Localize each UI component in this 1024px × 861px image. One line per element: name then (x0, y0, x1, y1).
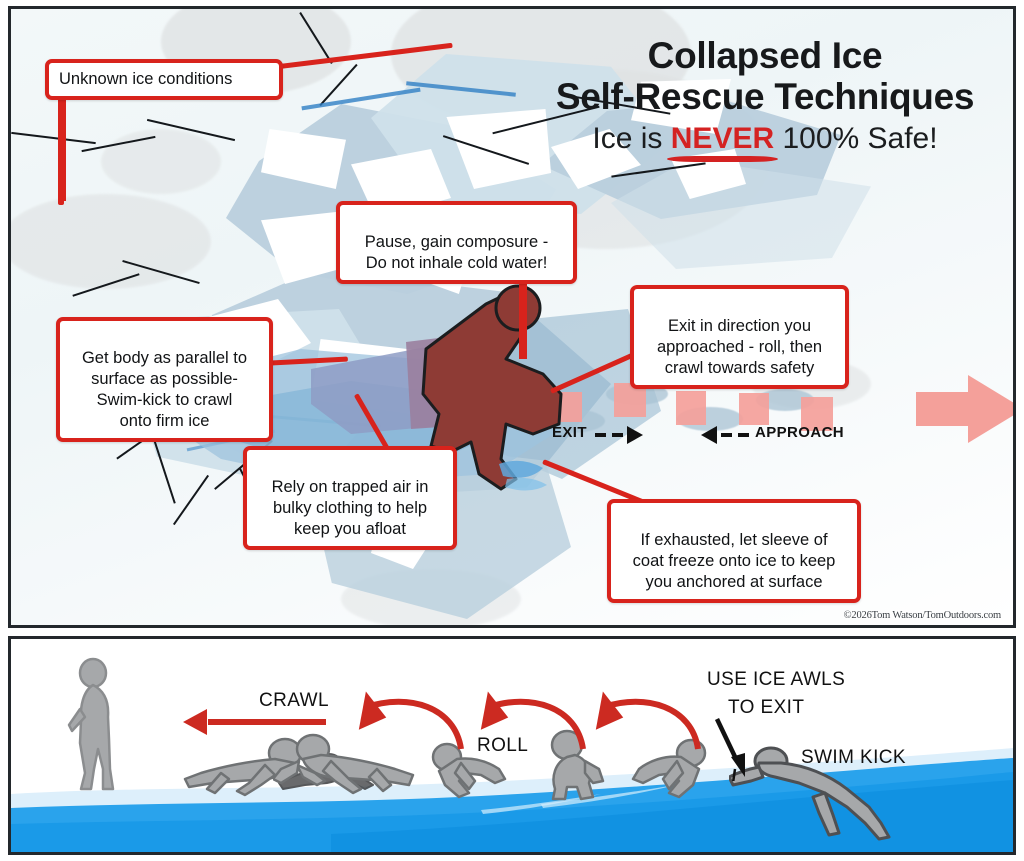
callout-body-parallel[interactable]: Get body as parallel to surface as possi… (56, 317, 273, 442)
exit-label: EXIT (552, 424, 587, 441)
approach-arrowhead (701, 426, 717, 444)
approach-dash (721, 433, 732, 437)
crawl-arrow-head (183, 709, 207, 735)
title-block: Collapsed Ice Self-Rescue Techniques Ice… (545, 35, 985, 156)
arrow-head (968, 375, 1016, 443)
approach-dash (738, 433, 749, 437)
callout-text: Unknown ice conditions (59, 70, 232, 88)
exit-arrowhead (627, 426, 643, 444)
infographic-root: EXIT APPROACH Unknown ice conditions Pau… (0, 0, 1024, 861)
copyright-notice: ©2026Tom Watson/TomOutdoors.com (844, 610, 1001, 621)
roll-label: ROLL (477, 735, 528, 757)
crack-line (11, 132, 96, 144)
main-illustration-panel: EXIT APPROACH Unknown ice conditions Pau… (8, 6, 1016, 628)
figure-walking (63, 657, 127, 795)
roll-arc-3 (576, 691, 706, 753)
subtitle-emphasis: NEVER (671, 122, 774, 155)
callout-pause-composure[interactable]: Pause, gain composure - Do not inhale co… (336, 201, 577, 284)
subtitle: Ice is NEVER 100% Safe! (545, 122, 985, 156)
cloud-blob (8, 194, 211, 289)
arrow-shaft (916, 392, 974, 426)
ice-awls-label-line1: USE ICE AWLS (707, 669, 845, 691)
emphasis-underline (667, 156, 778, 162)
subtitle-emphasis-text: NEVER (671, 122, 774, 155)
direction-arrow-large (916, 375, 1016, 443)
ice-awls-label-line2: TO EXIT (728, 697, 804, 719)
sequence-panel: CRAWL ROLL USE ICE AWLS TO EXIT SWIM KIC… (8, 636, 1016, 855)
callout-text: Exit in direction you approached - roll,… (657, 317, 822, 377)
leader-unknown-ice-tip (58, 195, 64, 205)
crawl-label: CRAWL (259, 690, 329, 712)
cloud-blob (101, 129, 221, 194)
callout-text: Rely on trapped air in bulky clothing to… (272, 478, 429, 538)
exit-dash (612, 433, 623, 437)
title-line-2: Self-Rescue Techniques (545, 76, 985, 117)
callout-trapped-air[interactable]: Rely on trapped air in bulky clothing to… (243, 446, 457, 550)
callout-text: If exhausted, let sleeve of coat freeze … (633, 531, 836, 591)
crawl-arrow-shaft (208, 719, 326, 725)
callout-unknown-ice[interactable]: Unknown ice conditions (45, 59, 283, 100)
exit-dash (595, 433, 606, 437)
approach-label: APPROACH (755, 424, 844, 441)
callout-freeze-sleeve[interactable]: If exhausted, let sleeve of coat freeze … (607, 499, 861, 603)
footprint (739, 393, 769, 425)
subtitle-suffix: 100% Safe! (774, 122, 937, 155)
callout-exit-direction[interactable]: Exit in direction you approached - roll,… (630, 285, 849, 389)
swim-kick-label: SWIM KICK (801, 747, 906, 769)
awl-pointer-arrow (711, 717, 757, 781)
roll-arc-1 (339, 691, 469, 753)
callout-text: Pause, gain composure - Do not inhale co… (365, 233, 548, 272)
title-line-1: Collapsed Ice (545, 35, 985, 76)
callout-text: Get body as parallel to surface as possi… (82, 349, 247, 430)
subtitle-prefix: Ice is (592, 122, 670, 155)
footprint (676, 391, 706, 425)
leader-unknown-ice-stem (58, 91, 66, 201)
